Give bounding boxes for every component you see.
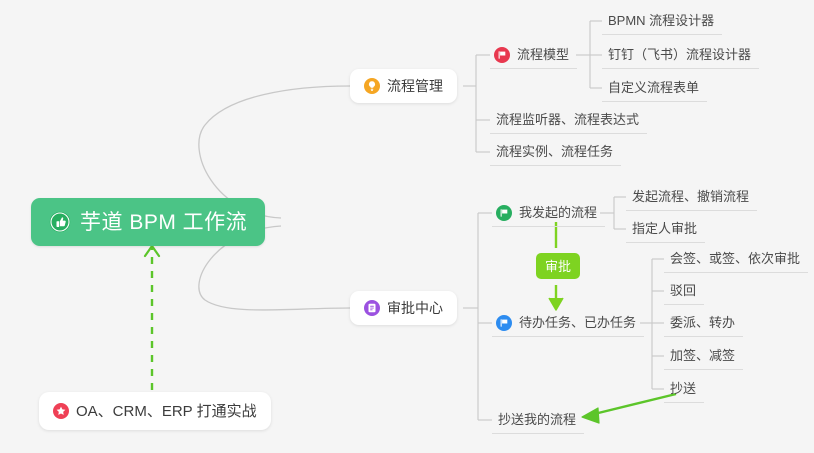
node-process-instance-label: 流程实例、流程任务: [496, 145, 613, 158]
footer-node-integration-label: OA、CRM、ERP 打通实战: [76, 404, 257, 419]
flag-icon: [494, 47, 510, 63]
clipboard-icon: [364, 300, 380, 316]
branch-approval-center-label: 审批中心: [387, 301, 443, 315]
flag-blue-icon: [496, 315, 512, 331]
node-todo-done-tasks-label: 待办任务、已办任务: [519, 316, 636, 329]
node-bpmn-designer[interactable]: BPMN 流程设计器: [602, 7, 722, 35]
node-delegate-transfer[interactable]: 委派、转办: [664, 309, 743, 337]
approval-tag[interactable]: 审批: [536, 253, 580, 279]
root-node-label: 芋道 BPM 工作流: [80, 212, 247, 233]
node-delegate-transfer-label: 委派、转办: [670, 316, 735, 329]
node-cc[interactable]: 抄送: [664, 375, 704, 403]
node-todo-done-tasks[interactable]: 待办任务、已办任务: [492, 309, 644, 337]
node-custom-form[interactable]: 自定义流程表单: [602, 74, 707, 102]
node-cc-label: 抄送: [670, 382, 696, 395]
node-process-listener[interactable]: 流程监听器、流程表达式: [490, 106, 647, 134]
branch-process-management-label: 流程管理: [387, 79, 443, 93]
star-icon: [53, 403, 69, 419]
thumbs-up-icon: [49, 211, 71, 233]
branch-approval-center[interactable]: 审批中心: [350, 291, 457, 325]
node-process-model-label: 流程模型: [517, 48, 569, 61]
node-custom-form-label: 自定义流程表单: [608, 81, 699, 94]
node-start-cancel-process[interactable]: 发起流程、撤销流程: [626, 183, 757, 211]
node-reject[interactable]: 驳回: [664, 277, 704, 305]
green-arrow-cc-line: [586, 394, 676, 416]
flag-green-icon: [496, 205, 512, 221]
node-start-cancel-process-label: 发起流程、撤销流程: [632, 190, 749, 203]
node-process-model[interactable]: 流程模型: [490, 41, 577, 69]
branch-process-management[interactable]: 流程管理: [350, 69, 457, 103]
node-dingtalk-designer-label: 钉钉（飞书）流程设计器: [608, 48, 751, 61]
node-assignee-approval[interactable]: 指定人审批: [626, 215, 705, 243]
node-process-instance[interactable]: 流程实例、流程任务: [490, 138, 621, 166]
node-assignee-approval-label: 指定人审批: [632, 222, 697, 235]
dashed-link-arrowhead: [145, 246, 159, 256]
footer-node-integration[interactable]: OA、CRM、ERP 打通实战: [39, 392, 271, 430]
node-dingtalk-designer[interactable]: 钉钉（飞书）流程设计器: [602, 41, 759, 69]
green-arrow-cc-head: [582, 408, 599, 423]
node-reject-label: 驳回: [670, 284, 696, 297]
node-my-initiated-label: 我发起的流程: [519, 206, 597, 219]
node-process-listener-label: 流程监听器、流程表达式: [496, 113, 639, 126]
node-cc-to-me-label: 抄送我的流程: [498, 413, 576, 426]
node-bpmn-designer-label: BPMN 流程设计器: [608, 14, 714, 27]
node-countersign-label: 会签、或签、依次审批: [670, 252, 800, 265]
node-my-initiated[interactable]: 我发起的流程: [492, 199, 605, 227]
node-add-remove-sign-label: 加签、减签: [670, 349, 735, 362]
root-node[interactable]: 芋道 BPM 工作流: [31, 198, 265, 246]
node-add-remove-sign[interactable]: 加签、减签: [664, 342, 743, 370]
lightbulb-icon: [364, 78, 380, 94]
approval-tag-label: 审批: [545, 260, 571, 273]
node-cc-to-me[interactable]: 抄送我的流程: [492, 406, 584, 434]
mindmap-canvas: 芋道 BPM 工作流 流程管理 流程模型 BPMN 流程设计器 钉钉（飞书）流: [0, 0, 814, 453]
node-countersign[interactable]: 会签、或签、依次审批: [664, 245, 808, 273]
